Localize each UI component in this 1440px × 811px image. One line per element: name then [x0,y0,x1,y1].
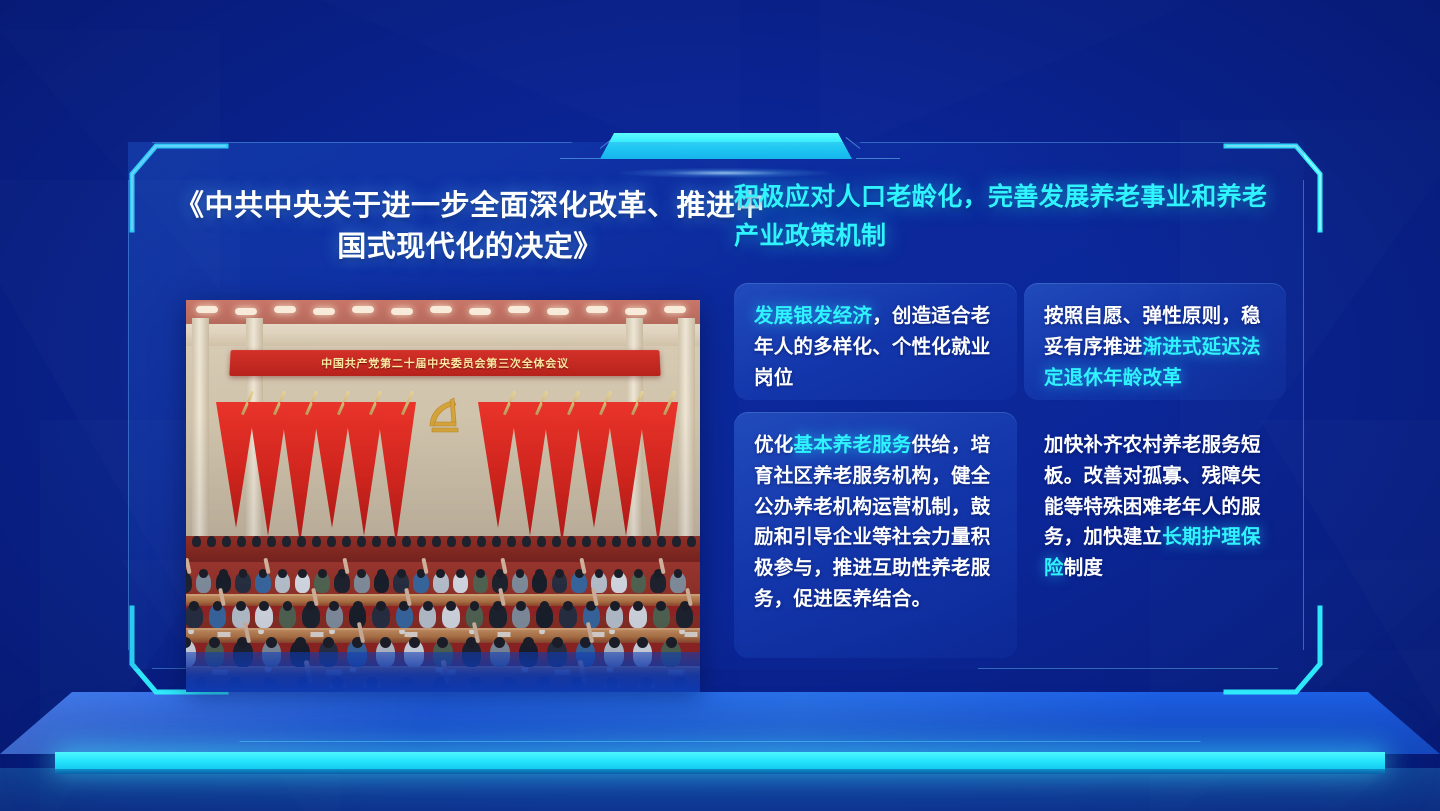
platform-cyan-strip [55,752,1385,770]
highlight-run: 发展银发经济 [754,305,872,327]
platform-strip-edge [55,769,1385,774]
platform-glow [0,768,1440,811]
document-title: 《中共中央关于进一步全面深化改革、推进中国式现代化的决定》 [170,186,770,268]
card-rural-and-ltc[interactable]: 加快补齐农村养老服务短板。改善对孤寡、残障失能等特殊困难老年人的服务，加快建立长… [1024,412,1286,598]
body-run: 优化 [754,434,793,456]
card-silver-economy[interactable]: 发展银发经济，创造适合老年人的多样化、个性化就业岗位 [734,283,1017,400]
card-basic-elderly-service[interactable]: 优化基本养老服务供给，培育社区养老服务机构，健全公办养老机构运营机制，鼓励和引导… [734,412,1017,658]
highlight-run: 基本养老服务 [793,434,911,456]
body-run: 供给，培育社区养老服务机构，健全公办养老机构运营机制，鼓励和引导企业等社会力量积… [754,434,990,610]
body-run: 制度 [1064,557,1103,579]
section-heading: 积极应对人口老龄化，完善发展养老事业和养老产业政策机制 [734,178,1286,256]
content-panel: 《中共中央关于进一步全面深化改革、推进中国式现代化的决定》 中国共产党第二十届中… [118,128,1314,688]
photo-bottom-fade [186,652,700,692]
platform-inner-outline [190,692,1250,742]
card-retirement-age[interactable]: 按照自愿、弹性原则，稳妥有序推进渐进式延迟法定退休年龄改革 [1024,283,1286,400]
plenary-session-photo: 中国共产党第二十届中央委员会第三次全体会议 [186,300,700,688]
